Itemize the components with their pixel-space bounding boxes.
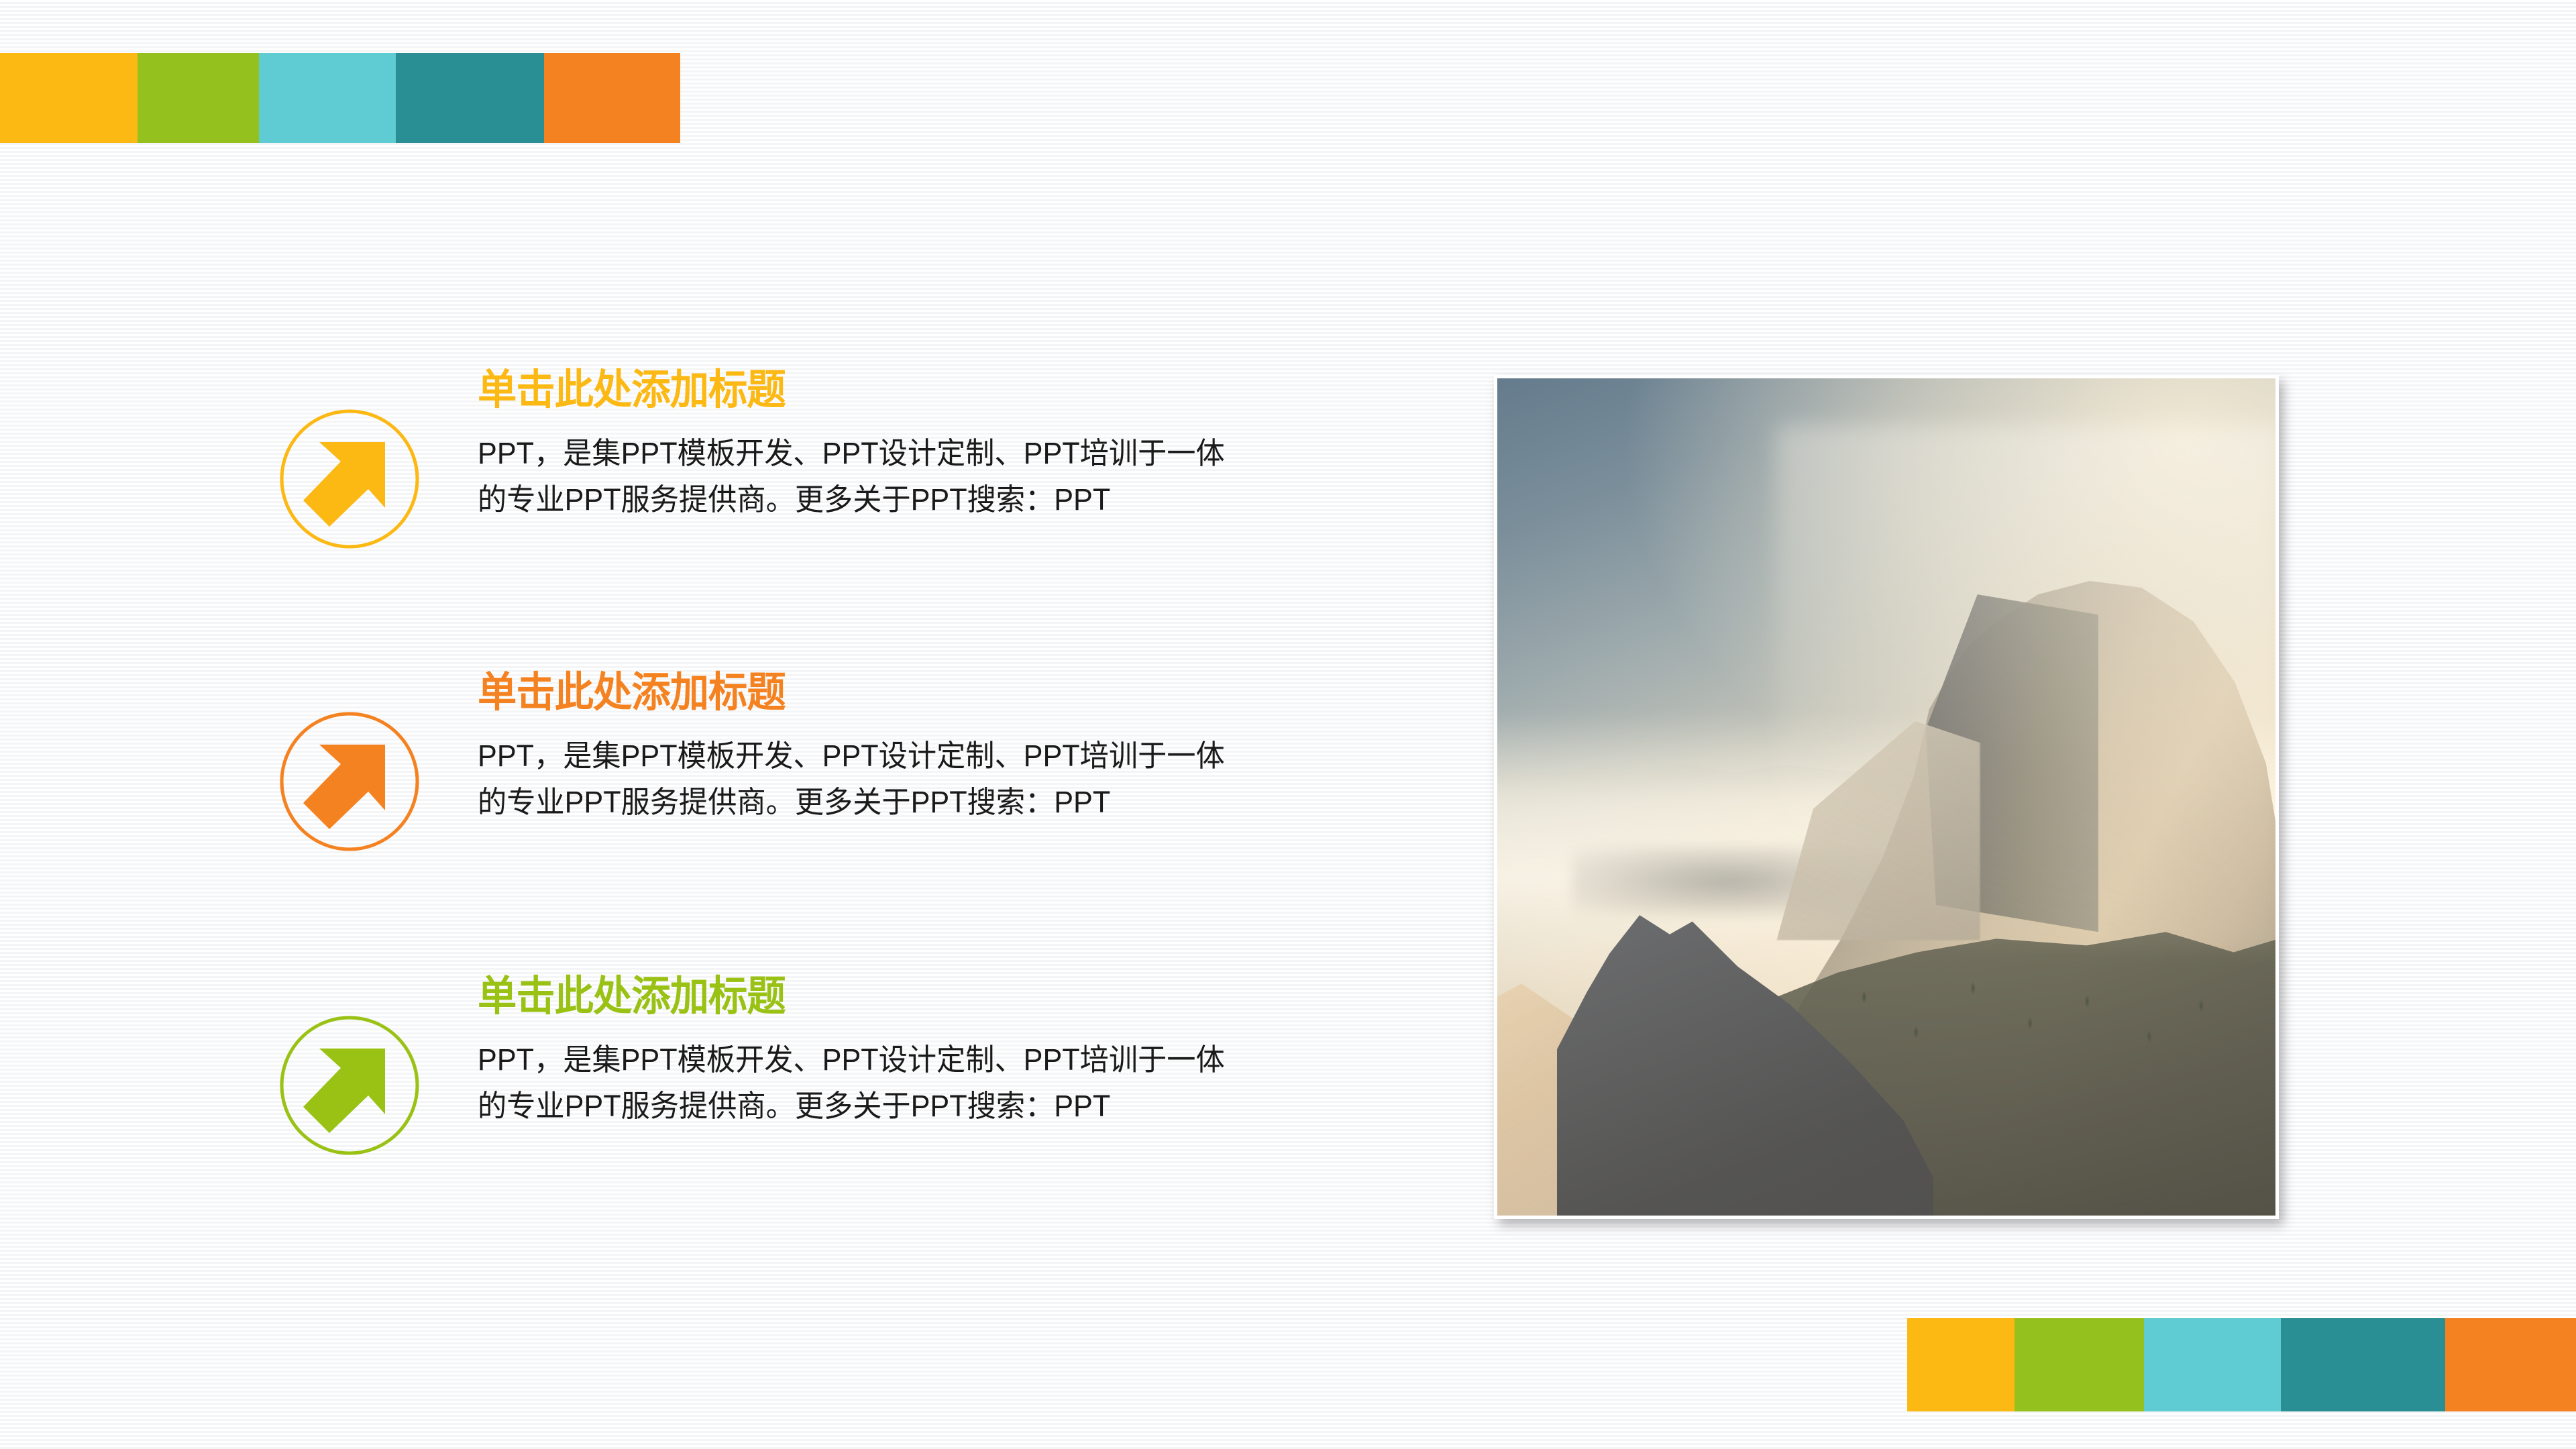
feature-text: 单击此处添加标题 PPT，是集PPT模板开发、PPT设计定制、PPT培训于一体的… [478,366,1283,523]
feature-text: 单击此处添加标题 PPT，是集PPT模板开发、PPT设计定制、PPT培训于一体的… [478,668,1283,825]
feature-text: 单击此处添加标题 PPT，是集PPT模板开发、PPT设计定制、PPT培训于一体的… [478,972,1283,1129]
feature-body: PPT，是集PPT模板开发、PPT设计定制、PPT培训于一体的专业PPT服务提供… [478,430,1234,523]
bottom-bar-segment-amber [1907,1318,2015,1411]
bottom-bar-segment-orange [2445,1318,2576,1411]
arrow-up-right-circle-icon[interactable] [278,407,421,551]
bottom-bar-segment-lime [2015,1318,2144,1411]
feature-body: PPT，是集PPT模板开发、PPT设计定制、PPT培训于一体的专业PPT服务提供… [478,1036,1234,1129]
feature-title: 单击此处添加标题 [478,668,1234,718]
bottom-bar-segment-teal [2281,1318,2445,1411]
slide-canvas: 单击此处添加标题 PPT，是集PPT模板开发、PPT设计定制、PPT培训于一体的… [0,0,2576,1449]
feature-title: 单击此处添加标题 [478,972,1234,1022]
feature-body: PPT，是集PPT模板开发、PPT设计定制、PPT培训于一体的专业PPT服务提供… [478,733,1234,825]
photo-layer-color-wash [1494,375,2279,1219]
arrow-up-right-circle-icon[interactable] [278,710,421,853]
bottom-color-bar [1907,1318,2576,1411]
mountain-photo-image [1494,375,2279,1219]
bottom-bar-segment-turquoise [2144,1318,2281,1411]
feature-title: 单击此处添加标题 [478,366,1234,415]
arrow-up-right-circle-icon[interactable] [278,1014,421,1157]
mountain-photo[interactable] [1494,375,2279,1219]
feature-list: 单击此处添加标题 PPT，是集PPT模板开发、PPT设计定制、PPT培训于一体的… [0,0,1342,1449]
